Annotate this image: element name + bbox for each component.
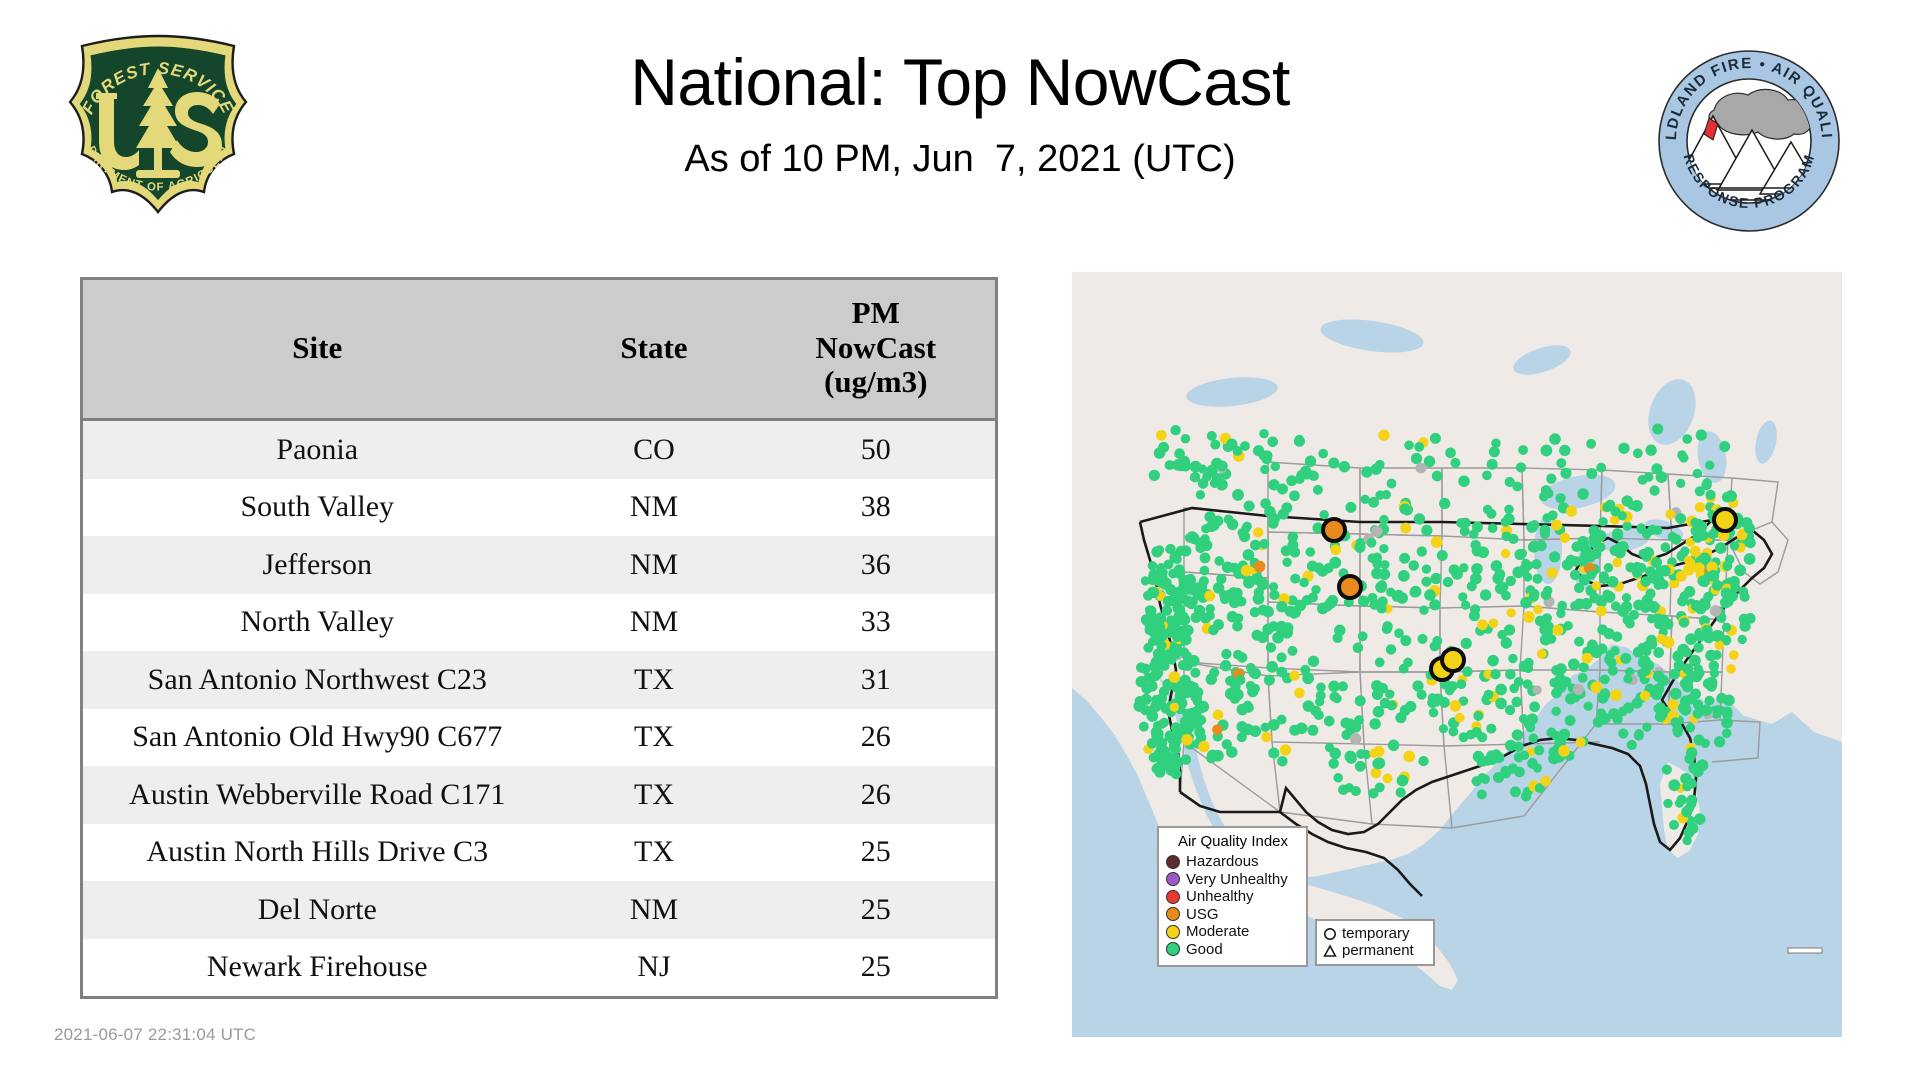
monitor-dot xyxy=(1715,542,1727,554)
cell-site: San Antonio Old Hwy90 C677 xyxy=(82,709,552,767)
aqi-legend-label: Moderate xyxy=(1186,924,1249,939)
monitor-dot xyxy=(1469,529,1478,538)
site-type-label-temporary: temporary xyxy=(1342,926,1410,941)
monitor-dot xyxy=(1682,836,1691,845)
monitor-dot xyxy=(1622,593,1631,602)
monitor-dot xyxy=(1259,539,1269,549)
monitor-dot xyxy=(1481,775,1490,784)
monitor-dot xyxy=(1289,490,1300,501)
monitor-dot xyxy=(1148,637,1157,646)
monitor-dot xyxy=(1182,659,1193,670)
monitor-dot xyxy=(1531,559,1541,569)
monitor-dot xyxy=(1377,603,1387,613)
monitor-dot xyxy=(1501,591,1511,601)
monitor-dot xyxy=(1514,742,1524,752)
monitor-dot xyxy=(1477,757,1487,767)
monitor-dot xyxy=(1546,728,1556,738)
monitor-dot xyxy=(1576,737,1586,747)
monitor-dot xyxy=(1268,518,1279,529)
aqi-legend-title: Air Quality Index xyxy=(1166,833,1300,850)
monitor-dot xyxy=(1375,490,1385,500)
monitor-dot xyxy=(1244,500,1255,511)
monitor-dot xyxy=(1612,558,1622,568)
monitor-dot xyxy=(1232,621,1243,632)
monitor-dot xyxy=(1612,528,1623,539)
monitor-dot xyxy=(1549,433,1561,445)
monitor-dot xyxy=(1350,733,1362,745)
monitor-dot xyxy=(1145,625,1156,636)
monitor-dot xyxy=(1599,688,1609,698)
monitor-dot xyxy=(1646,635,1657,646)
monitor-dot xyxy=(1355,695,1366,706)
monitor-dot xyxy=(1181,734,1192,745)
monitor-dot xyxy=(1645,445,1656,456)
aqi-swatch-icon xyxy=(1166,907,1180,921)
monitor-dot xyxy=(1228,587,1238,597)
monitor-dot xyxy=(1169,552,1181,564)
monitor-dot xyxy=(1313,485,1323,495)
page-subtitle: As of 10 PM, Jun 7, 2021 (UTC) xyxy=(280,138,1640,181)
monitor-dot xyxy=(1288,646,1298,656)
monitor-dot xyxy=(1677,596,1688,607)
monitor-dot xyxy=(1699,553,1710,564)
monitor-dot xyxy=(1243,701,1253,711)
monitor-dot xyxy=(1333,633,1343,643)
monitor-dot xyxy=(1512,566,1524,578)
column-header-site-label: Site xyxy=(292,330,342,365)
monitor-dot xyxy=(1675,799,1684,808)
monitor-dot xyxy=(1642,723,1651,732)
monitor-dot xyxy=(1303,700,1315,712)
monitor-dot xyxy=(1432,636,1442,646)
monitor-dot xyxy=(1356,749,1366,759)
monitor-dot xyxy=(1605,500,1615,510)
monitor-dot xyxy=(1149,703,1159,713)
monitor-dot xyxy=(1439,498,1450,509)
monitor-dot xyxy=(1623,674,1633,684)
monitor-dot xyxy=(1361,466,1372,477)
monitor-dot xyxy=(1171,649,1181,659)
monitor-dot xyxy=(1577,555,1588,566)
monitor-dot xyxy=(1505,669,1516,680)
monitor-dot xyxy=(1276,667,1287,678)
monitor-dot xyxy=(1711,630,1723,642)
monitor-dot xyxy=(1556,609,1565,618)
site-type-legend-row-permanent: permanent xyxy=(1323,942,1428,959)
highlighted-site-marker[interactable] xyxy=(1714,509,1736,531)
monitor-dot xyxy=(1198,464,1207,473)
monitor-dot xyxy=(1411,453,1422,464)
monitor-dot xyxy=(1170,703,1179,712)
monitor-dot xyxy=(1738,587,1748,597)
monitor-dot xyxy=(1565,715,1576,726)
monitor-dot xyxy=(1327,595,1338,606)
table-row: Austin North Hills Drive C3TX25 xyxy=(82,824,997,882)
monitor-dot xyxy=(1431,573,1442,584)
monitor-dot xyxy=(1459,563,1468,572)
monitor-dot xyxy=(1642,552,1652,562)
monitor-dot xyxy=(1421,525,1432,536)
monitor-dot xyxy=(1141,694,1152,705)
monitor-dot xyxy=(1503,513,1514,524)
monitor-dot xyxy=(1261,454,1272,465)
monitor-dot xyxy=(1566,555,1576,565)
monitor-dot xyxy=(1512,481,1522,491)
monitor-dot xyxy=(1206,674,1217,685)
monitor-dot xyxy=(1149,470,1160,481)
monitor-dot xyxy=(1518,445,1528,455)
monitor-dot xyxy=(1744,523,1755,534)
monitor-dot xyxy=(1181,434,1191,444)
monitor-dot xyxy=(1377,580,1387,590)
monitor-dot xyxy=(1500,767,1511,778)
monitor-dot xyxy=(1488,618,1498,628)
monitor-dot xyxy=(1386,644,1396,654)
monitor-dot xyxy=(1551,520,1562,531)
cell-pm: 31 xyxy=(757,651,997,709)
monitor-dot xyxy=(1633,448,1643,458)
monitor-dot xyxy=(1183,625,1194,636)
monitor-dot xyxy=(1618,443,1629,454)
table-header: Site State PM NowCast (ug/m3) xyxy=(82,279,997,420)
monitor-dot xyxy=(1490,669,1500,679)
monitor-dot xyxy=(1551,706,1560,715)
monitor-dot xyxy=(1324,716,1335,727)
monitor-dot xyxy=(1526,723,1535,732)
monitor-dot xyxy=(1318,449,1328,459)
monitor-dot xyxy=(1207,431,1217,441)
monitor-dot xyxy=(1693,562,1704,573)
monitor-dot xyxy=(1340,717,1351,728)
monitor-dot xyxy=(1548,753,1560,765)
monitor-dot xyxy=(1729,650,1739,660)
monitor-dot xyxy=(1437,550,1448,561)
monitor-dot xyxy=(1520,597,1532,609)
monitor-dot xyxy=(1224,514,1234,524)
highlighted-site-marker[interactable] xyxy=(1323,519,1345,541)
monitor-dot xyxy=(1491,439,1501,449)
monitor-dot xyxy=(1712,650,1722,660)
monitor-dot xyxy=(1200,566,1210,576)
monitor-dot xyxy=(1675,513,1686,524)
monitor-dot xyxy=(1532,685,1541,694)
monitor-dot xyxy=(1196,543,1206,553)
monitor-dot xyxy=(1705,460,1714,469)
monitor-dot xyxy=(1710,605,1721,616)
aqi-legend-row: Very Unhealthy xyxy=(1166,871,1300,889)
table-row: San Antonio Northwest C23TX31 xyxy=(82,651,997,709)
monitor-dot xyxy=(1632,567,1642,577)
monitor-dot xyxy=(1579,662,1589,672)
monitor-dot xyxy=(1508,534,1518,544)
monitor-dot xyxy=(1668,532,1678,542)
monitor-dot xyxy=(1250,668,1259,677)
circle-icon xyxy=(1323,927,1337,941)
monitor-dot xyxy=(1653,647,1664,658)
monitor-dot xyxy=(1380,560,1389,569)
monitor-dot xyxy=(1305,456,1316,467)
monitor-dot xyxy=(1181,754,1191,764)
monitor-dot xyxy=(1637,669,1647,679)
monitor-dot xyxy=(1261,732,1271,742)
table-row: Newark FirehouseNJ25 xyxy=(82,939,997,998)
monitor-dot xyxy=(1470,573,1482,585)
monitor-dot xyxy=(1565,693,1576,704)
monitor-dot xyxy=(1330,544,1341,555)
monitor-dot xyxy=(1606,650,1615,659)
monitor-dot xyxy=(1429,708,1438,717)
cell-state: TX xyxy=(552,709,757,767)
aqi-legend-label: Unhealthy xyxy=(1186,889,1254,904)
monitor-dot xyxy=(1227,611,1238,622)
monitor-dot xyxy=(1627,740,1637,750)
monitor-dot xyxy=(1289,670,1299,680)
monitor-dot xyxy=(1254,561,1266,573)
monitor-dot xyxy=(1156,757,1166,767)
aqi-legend-row: Unhealthy xyxy=(1166,888,1300,906)
monitor-dot xyxy=(1482,470,1492,480)
monitor-dot xyxy=(1410,588,1420,598)
monitor-dot xyxy=(1170,425,1180,435)
monitor-dot xyxy=(1198,741,1209,752)
column-header-site: Site xyxy=(82,279,552,420)
monitor-dot xyxy=(1372,553,1382,563)
monitor-dot xyxy=(1259,429,1268,438)
table-row: JeffersonNM36 xyxy=(82,536,997,594)
monitor-dot xyxy=(1369,718,1380,729)
monitor-dot xyxy=(1170,623,1181,634)
monitor-dot xyxy=(1701,625,1712,636)
aqi-legend-label: Good xyxy=(1186,942,1223,957)
monitor-dot xyxy=(1445,447,1456,458)
monitor-dot xyxy=(1396,787,1406,797)
monitor-dot xyxy=(1213,710,1224,721)
monitor-dot xyxy=(1704,696,1714,706)
monitor-dot xyxy=(1690,546,1700,556)
aqi-swatch-icon xyxy=(1166,942,1180,956)
monitor-dot xyxy=(1687,795,1698,806)
monitor-dot xyxy=(1328,458,1339,469)
monitor-dot xyxy=(1508,654,1517,663)
monitor-dot xyxy=(1371,526,1382,537)
monitor-dot xyxy=(1656,634,1666,644)
monitor-dot xyxy=(1225,676,1235,686)
monitor-dot xyxy=(1738,635,1747,644)
monitor-dot xyxy=(1156,738,1167,749)
monitor-dot xyxy=(1296,722,1308,734)
monitor-dot xyxy=(1544,489,1553,498)
monitor-dot xyxy=(1730,541,1739,550)
monitor-dot xyxy=(1458,592,1467,601)
monitor-dot xyxy=(1721,588,1733,600)
column-header-state-label: State xyxy=(620,330,687,365)
monitor-dot xyxy=(1196,490,1205,499)
monitor-dot xyxy=(1367,538,1377,548)
monitor-dot xyxy=(1233,446,1243,456)
cell-state: NJ xyxy=(552,939,757,998)
monitor-dot xyxy=(1194,702,1206,714)
aqi-legend-row: USG xyxy=(1166,906,1300,924)
monitor-dot xyxy=(1281,627,1293,639)
monitor-dot xyxy=(1458,475,1470,487)
highlighted-site-marker[interactable] xyxy=(1339,576,1361,598)
monitor-dot xyxy=(1633,600,1644,611)
monitor-dot xyxy=(1639,655,1650,666)
highlighted-site-marker[interactable] xyxy=(1442,649,1464,671)
monitor-dot xyxy=(1695,603,1706,614)
monitor-dot xyxy=(1260,498,1271,509)
monitor-dot xyxy=(1505,705,1515,715)
monitor-dot xyxy=(1307,725,1318,736)
monitor-dot xyxy=(1404,441,1414,451)
monitor-dot xyxy=(1397,775,1409,787)
monitor-dot xyxy=(1665,510,1675,520)
monitor-dot xyxy=(1673,728,1683,738)
cell-pm: 26 xyxy=(757,766,997,824)
monitor-dot xyxy=(1587,640,1598,651)
monitor-dot xyxy=(1560,468,1571,479)
monitor-dot xyxy=(1596,463,1606,473)
monitor-dot xyxy=(1153,648,1164,659)
monitor-dot xyxy=(1541,445,1553,457)
monitor-dot xyxy=(1511,697,1521,707)
monitor-dot xyxy=(1281,545,1292,556)
monitor-dot xyxy=(1187,531,1198,542)
monitor-dot xyxy=(1509,683,1519,693)
monitor-dot xyxy=(1301,469,1312,480)
monitor-dot xyxy=(1680,546,1689,555)
monitor-dot xyxy=(1316,683,1326,693)
table-body: PaoniaCO50South ValleyNM38JeffersonNM36N… xyxy=(82,420,997,998)
monitor-dot xyxy=(1686,723,1696,733)
monitor-dot xyxy=(1148,561,1158,571)
monitor-dot xyxy=(1417,634,1427,644)
monitor-dot xyxy=(1510,786,1521,797)
monitor-dot xyxy=(1421,577,1431,587)
monitor-dot xyxy=(1237,732,1247,742)
monitor-dot xyxy=(1461,638,1472,649)
monitor-dot xyxy=(1155,545,1165,555)
monitor-dot xyxy=(1739,620,1750,631)
monitor-dot xyxy=(1387,479,1397,489)
monitor-dot xyxy=(1141,683,1152,694)
monitor-dot xyxy=(1358,631,1368,641)
monitor-dot xyxy=(1429,599,1440,610)
monitor-dot xyxy=(1375,657,1385,667)
monitor-dot xyxy=(1533,605,1542,614)
monitor-dot xyxy=(1486,724,1496,734)
top-nowcast-table-container: Site State PM NowCast (ug/m3) PaoniaCO50… xyxy=(80,277,995,999)
monitor-dot xyxy=(1377,683,1388,694)
monitor-dot xyxy=(1194,727,1205,738)
cell-site: South Valley xyxy=(82,479,552,537)
monitor-dot xyxy=(1745,537,1756,548)
monitor-dot xyxy=(1460,526,1470,536)
monitor-dot xyxy=(1495,698,1507,710)
monitor-dot xyxy=(1417,690,1427,700)
monitor-dot xyxy=(1529,589,1540,600)
triangle-icon xyxy=(1323,944,1337,958)
monitor-dot xyxy=(1586,570,1596,580)
monitor-dot xyxy=(1242,522,1252,532)
monitor-dot xyxy=(1329,557,1341,569)
monitor-dot xyxy=(1679,453,1688,462)
monitor-dot xyxy=(1586,468,1597,479)
monitor-dot xyxy=(1586,439,1596,449)
monitor-dot xyxy=(1302,672,1314,684)
monitor-dot xyxy=(1400,635,1411,646)
monitor-dot xyxy=(1154,447,1166,459)
monitor-dot xyxy=(1417,546,1427,556)
monitor-dot xyxy=(1487,459,1498,470)
monitor-dot xyxy=(1708,570,1720,582)
monitor-dot xyxy=(1204,590,1215,601)
monitor-dot xyxy=(1607,576,1619,588)
monitor-dot xyxy=(1504,624,1515,635)
monitor-dot xyxy=(1393,590,1404,601)
monitor-dot xyxy=(1200,552,1211,563)
monitor-dot xyxy=(1168,671,1180,683)
monitor-dot xyxy=(1690,689,1701,700)
monitor-dot xyxy=(1400,523,1411,534)
monitor-dot xyxy=(1659,565,1670,576)
aqi-swatch-icon xyxy=(1166,855,1180,869)
monitor-dot xyxy=(1190,668,1200,678)
monitor-dot xyxy=(1305,547,1315,557)
monitor-dot xyxy=(1661,542,1671,552)
monitor-dot xyxy=(1221,649,1231,659)
monitor-dot xyxy=(1591,548,1602,559)
monitor-dot xyxy=(1414,513,1425,524)
monitor-dot xyxy=(1548,510,1558,520)
monitor-dot xyxy=(1700,704,1712,716)
monitor-dot xyxy=(1277,715,1287,725)
monitor-dot xyxy=(1501,637,1512,648)
monitor-dot xyxy=(1514,549,1525,560)
monitor-dot xyxy=(1243,549,1255,561)
monitor-dot xyxy=(1439,697,1450,708)
monitor-dot xyxy=(1294,688,1305,699)
cell-site: Del Norte xyxy=(82,881,552,939)
monitor-dot xyxy=(1504,505,1514,515)
monitor-dot xyxy=(1266,661,1278,673)
monitor-dot xyxy=(1523,611,1535,623)
monitor-dot xyxy=(1529,701,1540,712)
monitor-dot xyxy=(1653,614,1664,625)
slide-root: FOREST SERVICE DEPARTMENT OF AGRICULTURE… xyxy=(0,0,1920,1080)
monitor-dot xyxy=(1495,684,1507,696)
monitor-dot xyxy=(1477,732,1487,742)
monitor-dot xyxy=(1674,660,1685,671)
monitor-dot xyxy=(1578,673,1588,683)
monitor-dot xyxy=(1289,609,1299,619)
monitor-dot xyxy=(1693,469,1702,478)
monitor-dot xyxy=(1222,739,1232,749)
monitor-dot xyxy=(1642,646,1652,656)
monitor-dot xyxy=(1693,642,1703,652)
monitor-dot xyxy=(1158,568,1168,578)
monitor-dot xyxy=(1345,502,1356,513)
monitor-dot xyxy=(1387,700,1397,710)
monitor-dot xyxy=(1696,521,1707,532)
monitor-dot xyxy=(1662,765,1672,775)
monitor-dot xyxy=(1645,588,1655,598)
monitor-dot xyxy=(1216,479,1228,491)
monitor-dot xyxy=(1368,788,1378,798)
site-type-legend-row-temporary: temporary xyxy=(1323,925,1428,942)
monitor-dot xyxy=(1314,710,1324,720)
monitor-dot xyxy=(1350,722,1361,733)
